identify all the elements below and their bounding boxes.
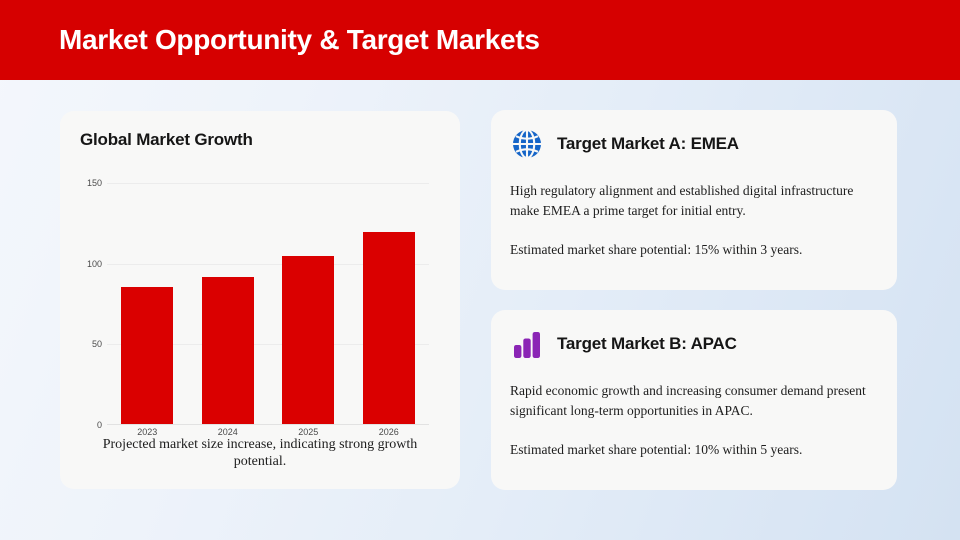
page-title: Market Opportunity & Target Markets [59,24,540,56]
target-market-card-b: Target Market B: APAC Rapid economic gro… [491,310,897,490]
paragraph-gap [510,220,880,240]
slide-body: Global Market Growth 150 100 50 0 [0,80,960,540]
bar-slot [349,183,430,424]
card-footnote: Estimated market share potential: 10% wi… [510,440,880,460]
card-footnote: Estimated market share potential: 15% wi… [510,240,880,260]
y-tick-label: 0 [97,420,102,430]
chart-caption: Projected market size increase, indicati… [84,436,436,470]
card-header: Target Market B: APAC [510,327,737,361]
bar-chart-icon [510,327,544,361]
y-tick-label: 150 [87,178,102,188]
header-banner: Market Opportunity & Target Markets [0,0,960,80]
paragraph-gap [510,420,880,440]
bar-2025 [282,256,334,424]
bar-2026 [363,232,415,424]
chart-card: Global Market Growth 150 100 50 0 [60,111,460,489]
target-market-card-a: Target Market A: EMEA High regulatory al… [491,110,897,290]
y-axis: 150 100 50 0 [60,183,107,425]
bar-2024 [202,277,254,424]
card-title: Target Market B: APAC [557,334,737,354]
y-tick-label: 100 [87,259,102,269]
card-title: Target Market A: EMEA [557,134,739,154]
bar-slot [188,183,269,424]
card-description: Rapid economic growth and increasing con… [510,381,880,420]
bar-slot [268,183,349,424]
bar-chart: 150 100 50 0 [60,183,460,453]
bar-group [107,183,429,424]
card-description: High regulatory alignment and establishe… [510,181,880,220]
bar-slot [107,183,188,424]
y-tick-label: 50 [92,339,102,349]
card-header: Target Market A: EMEA [510,127,739,161]
plot-area [107,183,429,425]
chart-title: Global Market Growth [80,130,253,150]
card-body: High regulatory alignment and establishe… [510,181,880,259]
card-body: Rapid economic growth and increasing con… [510,381,880,459]
globe-icon [510,127,544,161]
axis-baseline [107,424,429,425]
bar-2023 [121,287,173,424]
